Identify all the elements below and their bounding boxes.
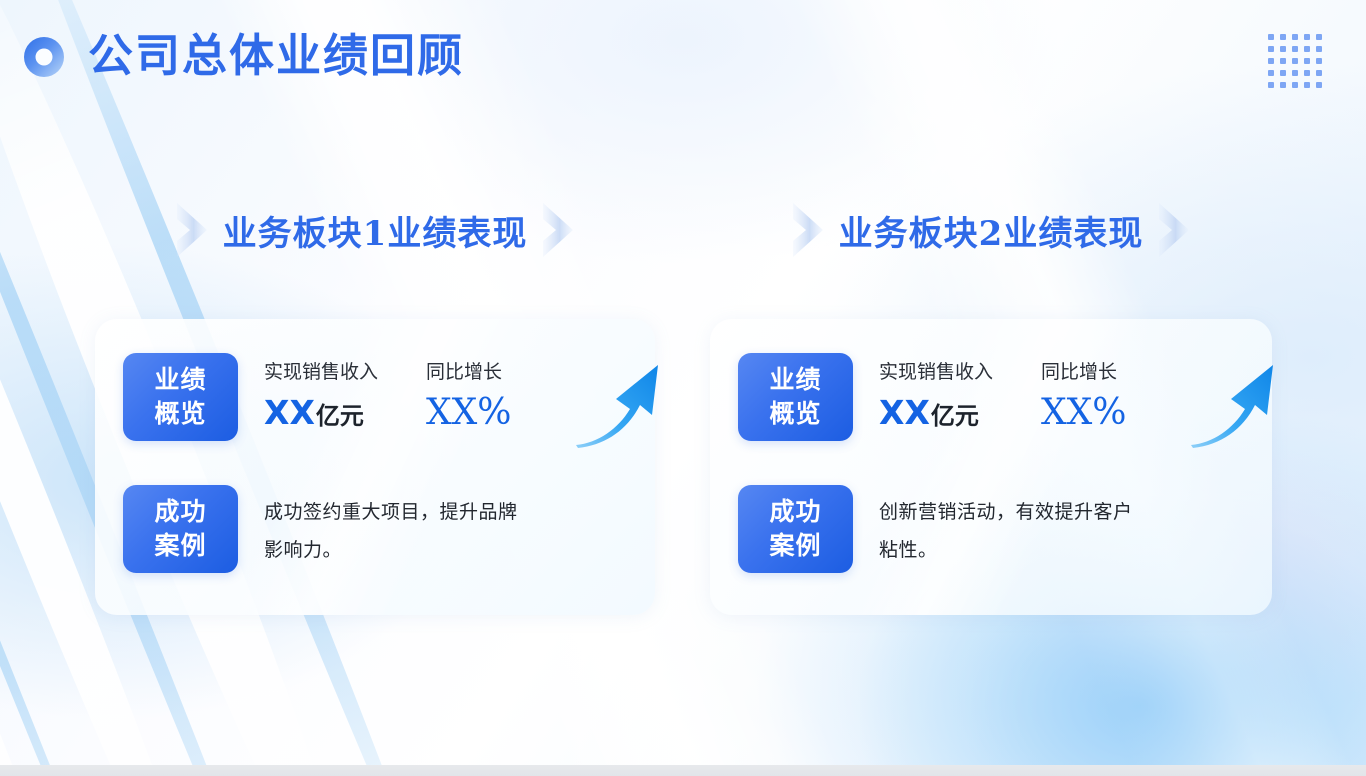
case-badge-1: 成功 案例	[123, 485, 238, 573]
column-header-1: 业务板块1业绩表现	[95, 192, 655, 268]
overview-row-1: 业绩 概览 实现销售收入 XX亿元 同比增长	[123, 353, 655, 473]
kpi-growth-1: 同比增长 XX%	[426, 359, 566, 440]
case-badge-line1: 成功	[154, 495, 206, 529]
case-row-1: 成功 案例 成功签约重大项目，提升品牌影响力。	[123, 485, 655, 573]
overview-badge-2: 业绩 概览	[738, 353, 853, 441]
slide-canvas: 公司总体业绩回顾 业	[0, 0, 1366, 776]
kpi-number: XX%	[1041, 392, 1126, 433]
business-column-1: 业务板块1业绩表现 业绩 概览 实现销售收入 XX亿元	[95, 192, 655, 615]
overview-badge-1: 业绩 概览	[123, 353, 238, 441]
kpi-label: 同比增长	[426, 359, 566, 385]
up-arrow-icon	[572, 353, 668, 453]
columns-container: 业务板块1业绩表现 业绩 概览 实现销售收入 XX亿元	[0, 0, 1366, 776]
case-badge-line2: 案例	[769, 529, 821, 563]
chevron-right-icon	[175, 201, 209, 259]
kpi-revenue-1: 实现销售收入 XX亿元	[264, 359, 426, 440]
case-row-2: 成功 案例 创新营销活动，有效提升客户粘性。	[738, 485, 1272, 573]
overview-badge-line1: 业绩	[769, 363, 821, 397]
kpi-label: 同比增长	[1041, 359, 1181, 385]
up-arrow-icon	[1187, 353, 1283, 453]
trend-arrow-wrap-2	[1187, 353, 1283, 458]
case-badge-line1: 成功	[769, 495, 821, 529]
kpi-revenue-2: 实现销售收入 XX亿元	[879, 359, 1041, 440]
chevron-right-icon	[1157, 201, 1191, 259]
business-column-2: 业务板块2业绩表现 业绩 概览 实现销售收入 XX亿元	[710, 192, 1272, 615]
kpi-label: 实现销售收入	[264, 359, 426, 385]
overview-badge-line1: 业绩	[154, 363, 206, 397]
trend-arrow-wrap-1	[572, 353, 668, 458]
kpi-value: XX%	[426, 393, 566, 440]
overview-row-2: 业绩 概览 实现销售收入 XX亿元 同比增长	[738, 353, 1272, 473]
chevron-right-icon	[541, 201, 575, 259]
performance-card-1: 业绩 概览 实现销售收入 XX亿元 同比增长	[95, 319, 655, 615]
kpi-label: 实现销售收入	[879, 359, 1041, 385]
kpi-unit: 亿元	[931, 402, 979, 430]
case-text-2: 创新营销活动，有效提升客户粘性。	[879, 485, 1147, 569]
column-header-2: 业务板块2业绩表现	[710, 192, 1272, 268]
case-badge-2: 成功 案例	[738, 485, 853, 573]
chevron-right-icon	[791, 201, 825, 259]
case-text-1: 成功签约重大项目，提升品牌影响力。	[264, 485, 532, 569]
case-badge-line2: 案例	[154, 529, 206, 563]
kpi-group-1: 实现销售收入 XX亿元 同比增长 XX%	[264, 353, 668, 458]
kpi-number: XX	[879, 393, 930, 432]
column-title-2: 业务板块2业绩表现	[839, 206, 1144, 255]
column-title-1: 业务板块1业绩表现	[223, 206, 528, 255]
performance-card-2: 业绩 概览 实现销售收入 XX亿元 同比增长	[710, 319, 1272, 615]
kpi-value: XX%	[1041, 393, 1181, 440]
kpi-unit: 亿元	[316, 402, 364, 430]
kpi-number: XX	[264, 393, 315, 432]
kpi-value: XX亿元	[264, 393, 426, 440]
kpi-number: XX%	[426, 392, 511, 433]
kpi-growth-2: 同比增长 XX%	[1041, 359, 1181, 440]
overview-badge-line2: 概览	[769, 397, 821, 431]
kpi-group-2: 实现销售收入 XX亿元 同比增长 XX%	[879, 353, 1283, 458]
kpi-value: XX亿元	[879, 393, 1041, 440]
overview-badge-line2: 概览	[154, 397, 206, 431]
